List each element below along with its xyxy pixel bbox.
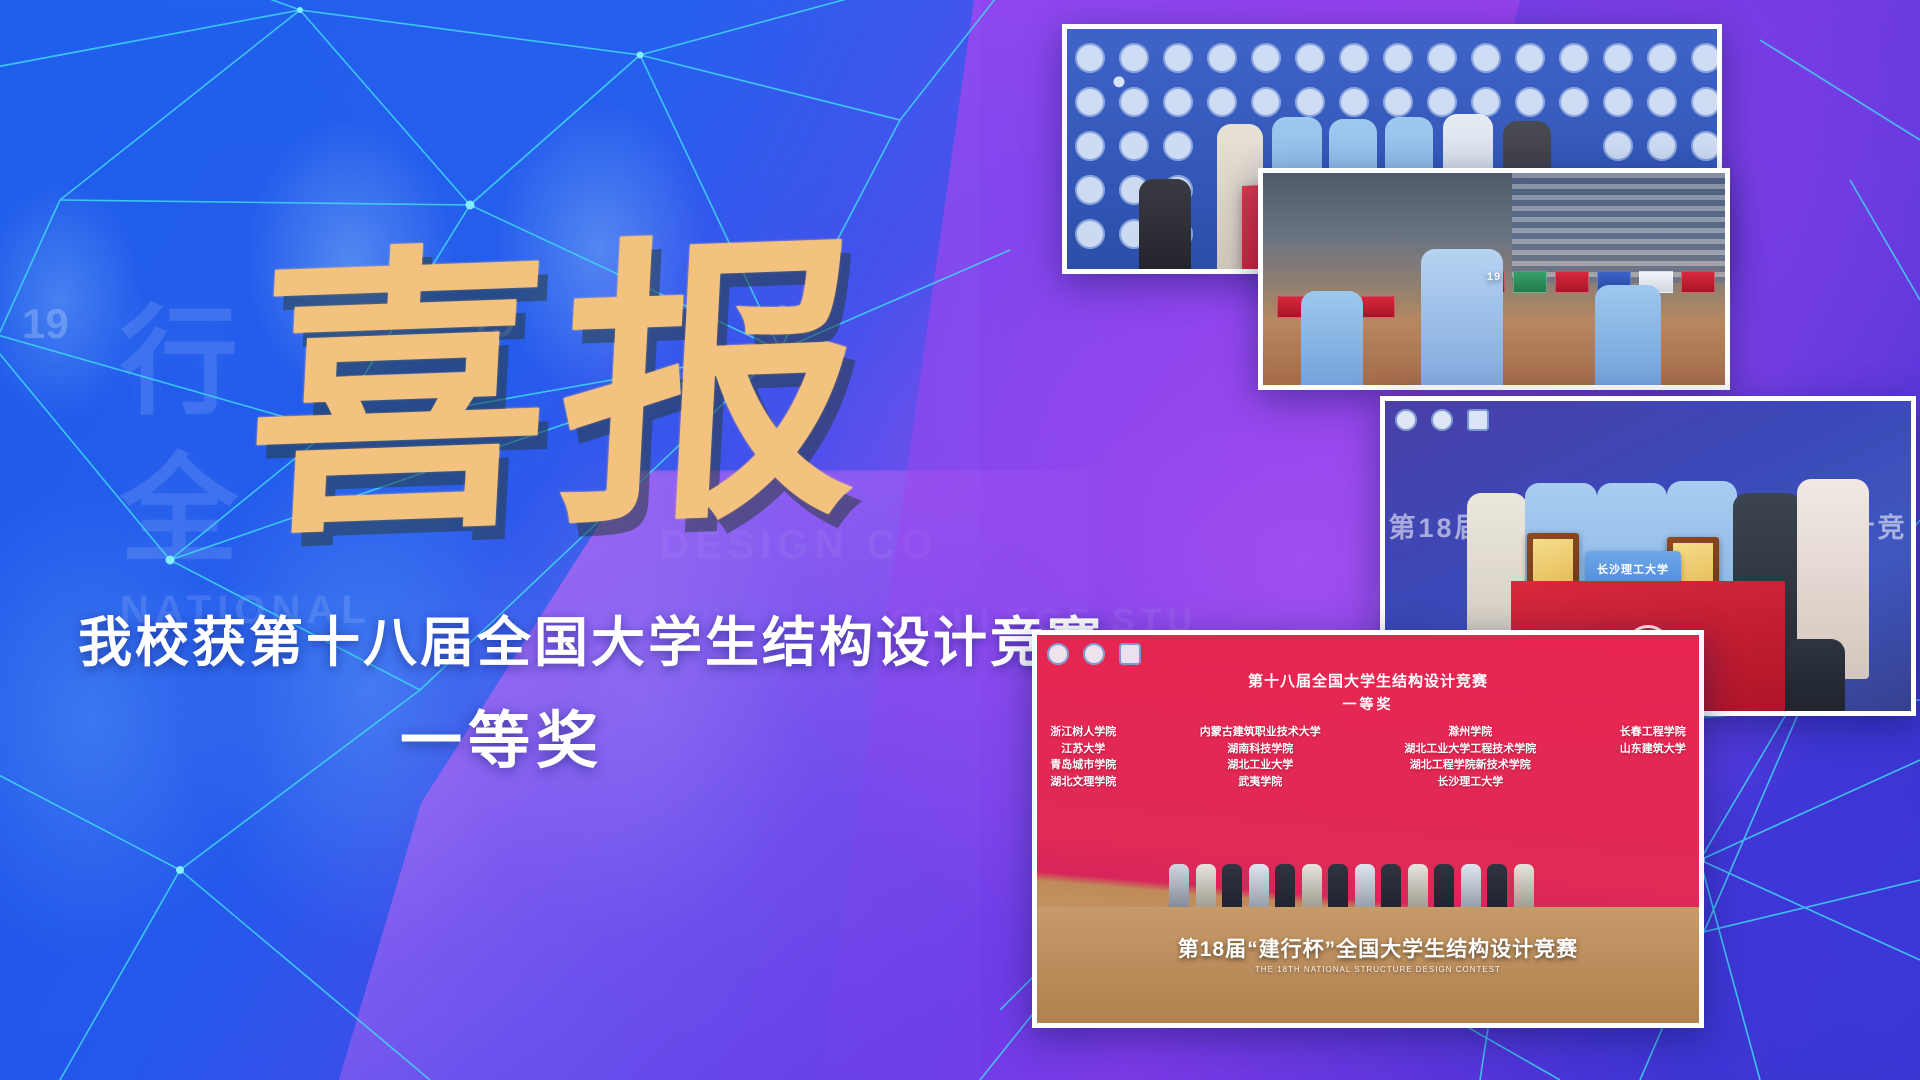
sponsor-logo-icon-b xyxy=(1083,643,1105,665)
page-title: 我校获第十八届全国大学生结构设计竞赛 xyxy=(78,598,1104,677)
school-name: 湖南科技学院 xyxy=(1200,741,1321,758)
photo-first-prize-stage: 第十八届全国大学生结构设计竞赛 一等奖 浙江树人学院 江苏大学 青岛城市学院 湖… xyxy=(1032,630,1704,1028)
school-name: 浙江树人学院 xyxy=(1050,724,1116,741)
sponsor-logo-icon-a xyxy=(1047,643,1069,665)
school-column-2: 内蒙古建筑职业技术大学 湖南科技学院 湖北工业大学 武夷学院 xyxy=(1200,724,1321,790)
sponsor-logo-icon-1 xyxy=(1395,409,1417,431)
stage-banner-en: THE 18TH NATIONAL STRUCTURE DESIGN CONTE… xyxy=(1255,965,1501,974)
school-column-3: 滁州学院 湖北工业大学工程技术学院 湖北工程学院新技术学院 长沙理工大学 xyxy=(1404,724,1536,790)
sponsor-logos xyxy=(1395,409,1489,431)
school-name: 长春工程学院 xyxy=(1620,724,1686,741)
prize-header-line2: 一等奖 xyxy=(1037,694,1699,714)
school-name: 内蒙古建筑职业技术大学 xyxy=(1200,724,1321,741)
school-name: 湖北工业大学工程技术学院 xyxy=(1404,741,1536,758)
school-name: 湖北工业大学 xyxy=(1200,757,1321,774)
school-name: 武夷学院 xyxy=(1200,774,1321,791)
school-column-4: 长春工程学院 山东建筑大学 xyxy=(1620,724,1686,790)
stage-banner: 第18届“建行杯”全国大学生结构设计竞赛 THE 18TH NATIONAL S… xyxy=(1077,907,1679,1000)
school-name: 长沙理工大学 xyxy=(1404,774,1536,791)
prize-header: 第十八届全国大学生结构设计竞赛 一等奖 xyxy=(1037,670,1699,714)
photo-competition-hall: 19 xyxy=(1258,168,1730,390)
school-name: 湖北文理学院 xyxy=(1050,774,1116,791)
first-prize-school-list: 浙江树人学院 江苏大学 青岛城市学院 湖北文理学院 内蒙古建筑职业技术大学 湖南… xyxy=(1050,724,1686,790)
sponsor-logo-icon-3 xyxy=(1467,409,1489,431)
photo-competition-hall-content: 19 xyxy=(1263,173,1725,385)
school-name: 山东建筑大学 xyxy=(1620,741,1686,758)
school-name: 青岛城市学院 xyxy=(1050,757,1116,774)
stage-sponsor-logos xyxy=(1047,643,1141,665)
school-name: 滁州学院 xyxy=(1404,724,1536,741)
hero-word-xibao: 喜报 xyxy=(242,244,878,535)
photo-first-prize-stage-content: 第十八届全国大学生结构设计竞赛 一等奖 浙江树人学院 江苏大学 青岛城市学院 湖… xyxy=(1037,635,1699,1023)
bleachers xyxy=(1512,173,1725,283)
poster-canvas: 行 全 NATIONAL DESIGN CO COLLEGE STU 19 19… xyxy=(0,0,1920,1080)
sponsor-logo-icon-c xyxy=(1119,643,1141,665)
school-name: 江苏大学 xyxy=(1050,741,1116,758)
award-label: 一等奖 xyxy=(400,690,604,780)
school-name: 湖北工程学院新技术学院 xyxy=(1404,757,1536,774)
headline-block: 喜报 我校获第十八届全国大学生结构设计竞赛 一等奖 xyxy=(0,0,980,1080)
stage-banner-cn: 第18届“建行杯”全国大学生结构设计竞赛 xyxy=(1178,933,1578,963)
prize-header-line1: 第十八届全国大学生结构设计竞赛 xyxy=(1037,670,1699,691)
school-column-1: 浙江树人学院 江苏大学 青岛城市学院 湖北文理学院 xyxy=(1050,724,1116,790)
sponsor-logo-icon-2 xyxy=(1431,409,1453,431)
